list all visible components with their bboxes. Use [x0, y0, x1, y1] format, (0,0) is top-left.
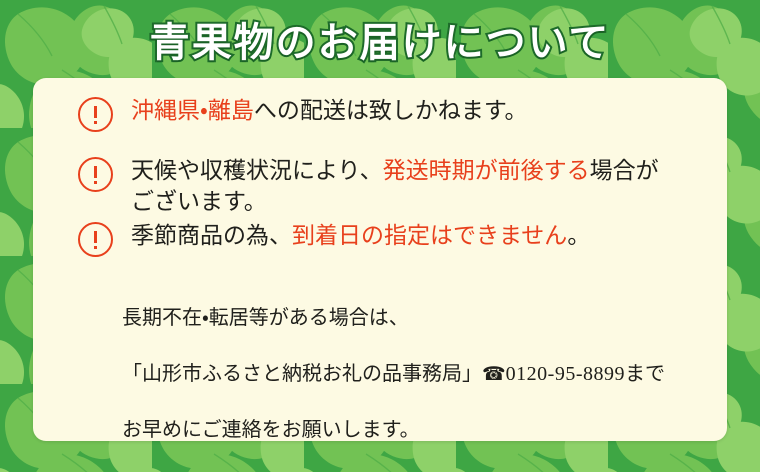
notice-plain: 天候や収穫状況により、	[131, 158, 383, 183]
notice-item-text: 天候や収穫状況により、発送時期が前後する場合が ございます。	[131, 155, 659, 217]
notice-plain: 。	[567, 223, 590, 248]
notice-plain: への配送は致しかねます。	[254, 98, 528, 123]
footer-note: 長期不在・転居等がある場合は、 「山形市ふるさと納税お礼の品事務局」☎0120-…	[122, 276, 665, 472]
notice-emphasis: 沖縄県・離島	[131, 98, 254, 123]
office-name: 「山形市ふるさと納税お礼の品事務局」	[122, 363, 482, 385]
footer-line-1: 長期不在・転居等がある場合は、	[122, 304, 665, 332]
footer-line-3: お早めにご連絡をお願いします。	[122, 416, 665, 444]
footer-line-2-suffix: まで	[625, 363, 665, 385]
notice-plain: 季節商品の為、	[131, 223, 292, 248]
exclamation-circle-icon	[78, 97, 113, 132]
notice-card: 沖縄県・離島への配送は致しかねます。 天候や収穫状況により、発送時期が前後する場…	[33, 78, 727, 441]
notice-banner: 青果物のお届けについて 沖縄県・離島への配送は致しかねます。 天候や収穫状況によ…	[0, 0, 760, 472]
page-title: 青果物のお届けについて	[150, 10, 611, 68]
exclamation-circle-icon	[78, 157, 113, 192]
notice-item: 季節商品の為、到着日の指定はできません。	[78, 220, 590, 257]
notice-item: 沖縄県・離島への配送は致しかねます。	[78, 95, 528, 132]
telephone-number: 0120-95-8899	[506, 363, 625, 385]
notice-item-text: 季節商品の為、到着日の指定はできません。	[131, 220, 590, 251]
notice-emphasis: 到着日の指定はできません	[292, 223, 567, 248]
notice-item-text: 沖縄県・離島への配送は致しかねます。	[131, 95, 528, 126]
footer-line-2: 「山形市ふるさと納税お礼の品事務局」☎0120-95-8899まで	[122, 360, 665, 388]
notice-item: 天候や収穫状況により、発送時期が前後する場合が ございます。	[78, 155, 659, 217]
telephone-icon: ☎	[482, 363, 506, 385]
header-band: 青果物のお届けについて	[0, 0, 760, 78]
notice-emphasis: 発送時期が前後する	[383, 158, 590, 183]
exclamation-circle-icon	[78, 222, 113, 257]
